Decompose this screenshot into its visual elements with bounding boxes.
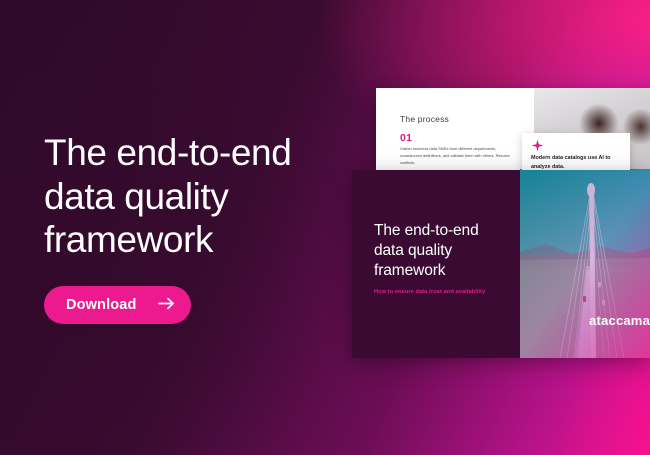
process-card-step-number: 01 bbox=[400, 132, 412, 144]
process-card-body: Gather business data SMEs from different… bbox=[400, 146, 512, 166]
process-card-title: The process bbox=[400, 114, 449, 124]
promo-banner: The end-to-end data quality framework Do… bbox=[0, 0, 650, 455]
ebook-cover-title: The end-to-end data quality framework bbox=[374, 221, 524, 280]
ebook-cover-subtitle: How to ensure data trust and availabilit… bbox=[374, 289, 534, 295]
ai-tip-text: Modern data catalogs use AI to analyze d… bbox=[531, 154, 623, 171]
ataccama-logo: ataccama bbox=[589, 313, 650, 328]
artwork-stack: The process 01 Gather business data SMEs… bbox=[0, 0, 650, 455]
bridge-photo: ataccama bbox=[520, 170, 650, 358]
ebook-cover-card: The end-to-end data quality framework Ho… bbox=[352, 170, 650, 358]
